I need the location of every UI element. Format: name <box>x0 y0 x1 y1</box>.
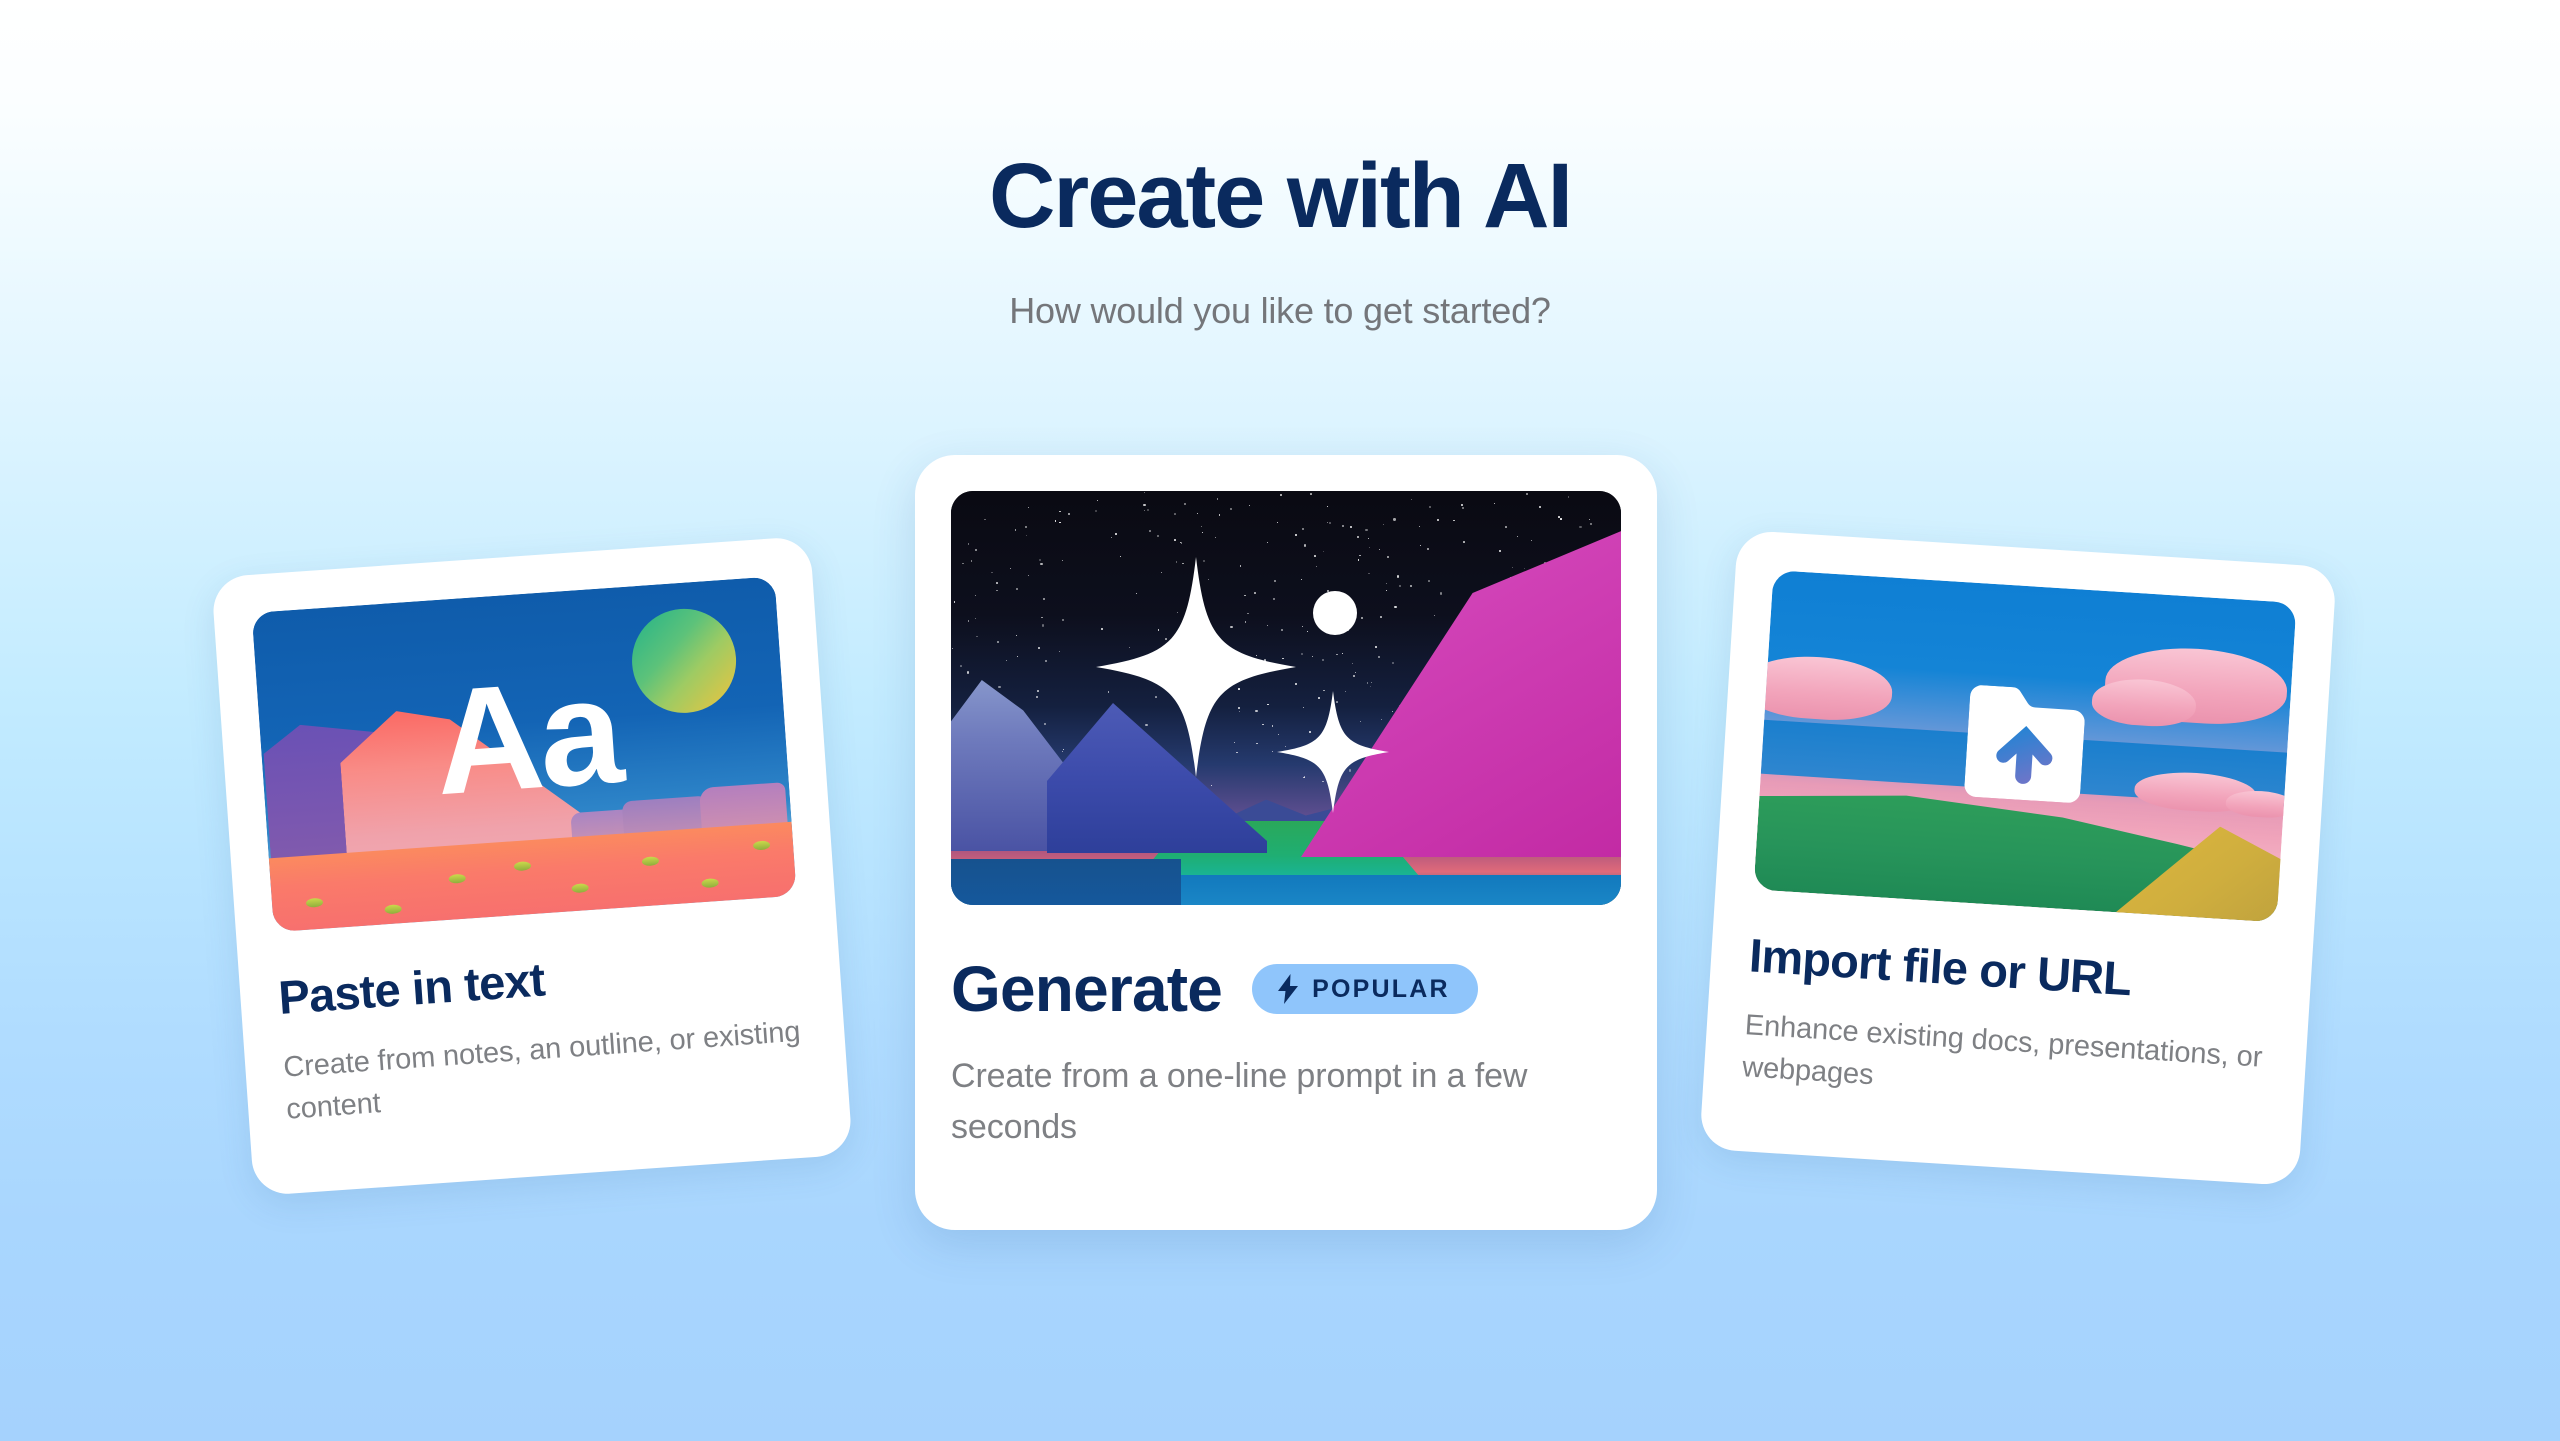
card-title-import-file-or-url: Import file or URL <box>1748 931 2274 1011</box>
status-badge-popular: POPULAR <box>1252 964 1478 1014</box>
card-paste-in-text[interactable]: Aa Paste in text Create from notes, an o… <box>211 536 853 1196</box>
card-description-generate: Create from a one-line prompt in a few s… <box>951 1051 1621 1153</box>
upload-folder-meadow-image <box>1754 570 2297 922</box>
sparkles-night-landscape-image <box>951 491 1621 905</box>
card-import-file-or-url[interactable]: Import file or URL Enhance existing docs… <box>1699 530 2337 1186</box>
generate-thumbnail <box>951 491 1621 905</box>
paste-in-text-thumbnail: Aa <box>252 576 797 932</box>
option-cards-container: Aa Paste in text Create from notes, an o… <box>0 0 2560 1441</box>
card-title-generate: Generate <box>951 957 1222 1021</box>
aa-typography-glyph: Aa <box>430 655 624 817</box>
card-description-import-file-or-url: Enhance existing docs, presentations, or… <box>1741 1004 2269 1121</box>
desert-landscape-image: Aa <box>252 576 797 932</box>
upload-folder-icon <box>1964 684 2087 803</box>
card-title-paste-in-text: Paste in text <box>277 938 803 1021</box>
card-generate[interactable]: Generate POPULAR Create from a one-line … <box>915 455 1657 1230</box>
card-description-paste-in-text: Create from notes, an outline, or existi… <box>282 1010 811 1130</box>
badge-label: POPULAR <box>1312 975 1450 1004</box>
lightning-bolt-icon <box>1276 974 1300 1004</box>
import-thumbnail <box>1754 570 2297 922</box>
generate-title-row: Generate POPULAR <box>951 957 1621 1021</box>
sparkles-group <box>951 491 1621 905</box>
